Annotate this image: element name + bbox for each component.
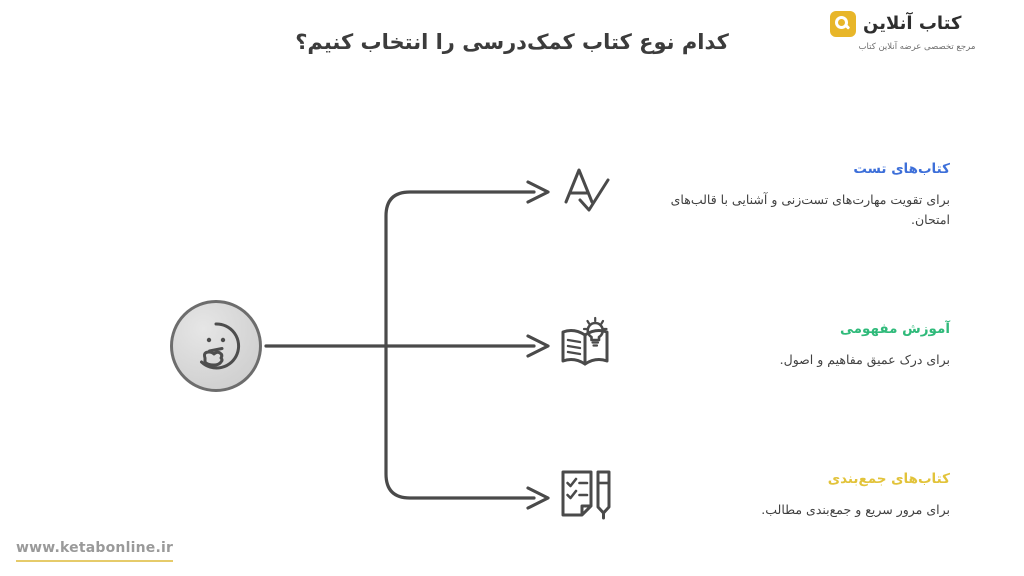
brand-logo-row: کتاب آنلاین	[830, 10, 1010, 38]
page-header: کدام نوع کتاب کمک‌درسی را انتخاب کنیم؟ ک…	[0, 0, 1024, 90]
branch-title: کتاب‌های جمع‌بندی	[640, 470, 950, 488]
arrowhead-branch-1	[528, 182, 548, 202]
book-circle-logo-icon	[830, 11, 856, 37]
checklist-pen-icon	[558, 466, 616, 524]
thinking-face-icon	[188, 318, 244, 374]
open-book-lightbulb-icon	[558, 316, 616, 374]
footer-website-url[interactable]: www.ketabonline.ir	[16, 540, 173, 562]
branch-title: آموزش مفهومی	[640, 320, 950, 338]
arrowhead-branch-2	[528, 336, 548, 356]
arrowhead-branch-3	[528, 488, 548, 508]
branch-text-block: آموزش مفهومی برای درک عمیق مفاهیم و اصول…	[640, 320, 950, 370]
branch-text-block: کتاب‌های تست برای تقویت مهارت‌های تست‌زن…	[640, 160, 950, 230]
branch-description: برای درک عمیق مفاهیم و اصول.	[640, 350, 950, 370]
branch-text-block: کتاب‌های جمع‌بندی برای مرور سریع و جمع‌ب…	[640, 470, 950, 520]
connector-branch-1	[386, 192, 534, 346]
connector-branch-3	[386, 346, 534, 498]
letter-a-checkmark-icon	[558, 160, 616, 218]
branch-title: کتاب‌های تست	[640, 160, 950, 178]
branch-description: برای تقویت مهارت‌های تست‌زنی و آشنایی با…	[640, 190, 950, 230]
brand-tagline: مرجع تخصصی عرضه آنلاین کتاب	[830, 42, 1010, 52]
brand-name: کتاب آنلاین	[863, 10, 961, 38]
brand-logo[interactable]: کتاب آنلاین مرجع تخصصی عرضه آنلاین کتاب	[830, 10, 1010, 62]
branch-description: برای مرور سریع و جمع‌بندی مطالب.	[640, 500, 950, 520]
central-node[interactable]	[170, 300, 262, 392]
